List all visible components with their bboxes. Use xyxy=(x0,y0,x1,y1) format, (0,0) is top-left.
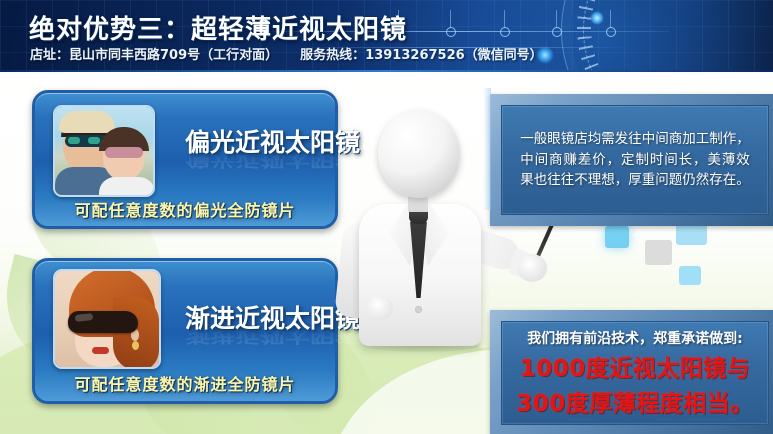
mascot-right-hand xyxy=(517,254,547,282)
product-photo-woman xyxy=(53,269,161,369)
callout-promise-box: 我们拥有前沿技术，郑重承诺做到: 1000度近视太阳镜与 300度厚薄程度相当。 xyxy=(490,310,773,434)
product-card-polarized[interactable]: 偏光近视太阳镜 偏光近视太阳镜 可配任意度数的偏光全防镜片 xyxy=(32,90,338,229)
header-bar: 绝对优势三：超轻薄近视太阳镜 店址：昆山市同丰西路709号（工行对面）服务热线：… xyxy=(0,0,773,72)
mascot-head xyxy=(378,110,460,198)
mascot-left-hand xyxy=(367,296,393,320)
hotline-label: 服务热线： xyxy=(300,48,365,63)
callout-problem-line1: 一般眼镜店均需发往中间商加工制作， xyxy=(520,129,750,150)
header-node-icon xyxy=(606,27,616,37)
callout-problem-line3: 果也往往不理想，厚重问题仍然存在。 xyxy=(520,170,750,191)
square-decoration xyxy=(605,226,629,248)
square-decoration xyxy=(645,240,672,265)
header-node-icon xyxy=(500,27,510,37)
product-photo-couple xyxy=(53,105,155,197)
square-decoration xyxy=(679,266,701,285)
header-glow-dot-icon xyxy=(590,11,604,25)
product-card-progressive[interactable]: 渐进近视太阳镜 渐进近视太阳镜 可配任意度数的渐进全防镜片 xyxy=(32,258,338,404)
callout-problem-text: 一般眼镜店均需发往中间商加工制作， 中间商赚差价，定制时间长，美薄效 果也往往不… xyxy=(510,129,760,192)
address-value: 昆山市同丰西路709号（工行对面） xyxy=(69,48,278,63)
callout-problem-box: 一般眼镜店均需发往中间商加工制作， 中间商赚差价，定制时间长，美薄效 果也往往不… xyxy=(490,94,773,226)
callout-promise-line2: 1000度近视太阳镜与 xyxy=(520,349,751,383)
header-contact-line: 店址：昆山市同丰西路709号（工行对面）服务热线：13913267526（微信同… xyxy=(30,44,543,63)
address-label: 店址： xyxy=(30,48,69,63)
callout-promise-line1: 我们拥有前沿技术，郑重承诺做到: xyxy=(527,328,743,348)
mascot-button xyxy=(415,306,422,313)
header-dial-ticks-icon xyxy=(573,0,773,72)
callout-promise-line3: 300度厚薄程度相当。 xyxy=(516,384,754,418)
product-card-title: 渐进近视太阳镜 xyxy=(185,299,360,335)
product-card-caption: 可配任意度数的渐进全防镜片 xyxy=(35,371,335,395)
header-node-icon xyxy=(446,27,456,37)
header-node-icon xyxy=(552,27,562,37)
callout-problem-line2: 中间商赚差价，定制时间长，美薄效 xyxy=(520,150,750,171)
hotline-value: 13913267526（微信同号） xyxy=(365,48,543,63)
advertisement-banner: 绝对优势三：超轻薄近视太阳镜 店址：昆山市同丰西路709号（工行对面）服务热线：… xyxy=(0,0,773,434)
header-title: 绝对优势三：超轻薄近视太阳镜 xyxy=(29,9,407,46)
product-card-title: 偏光近视太阳镜 xyxy=(185,123,360,159)
product-card-caption: 可配任意度数的偏光全防镜片 xyxy=(35,197,335,221)
